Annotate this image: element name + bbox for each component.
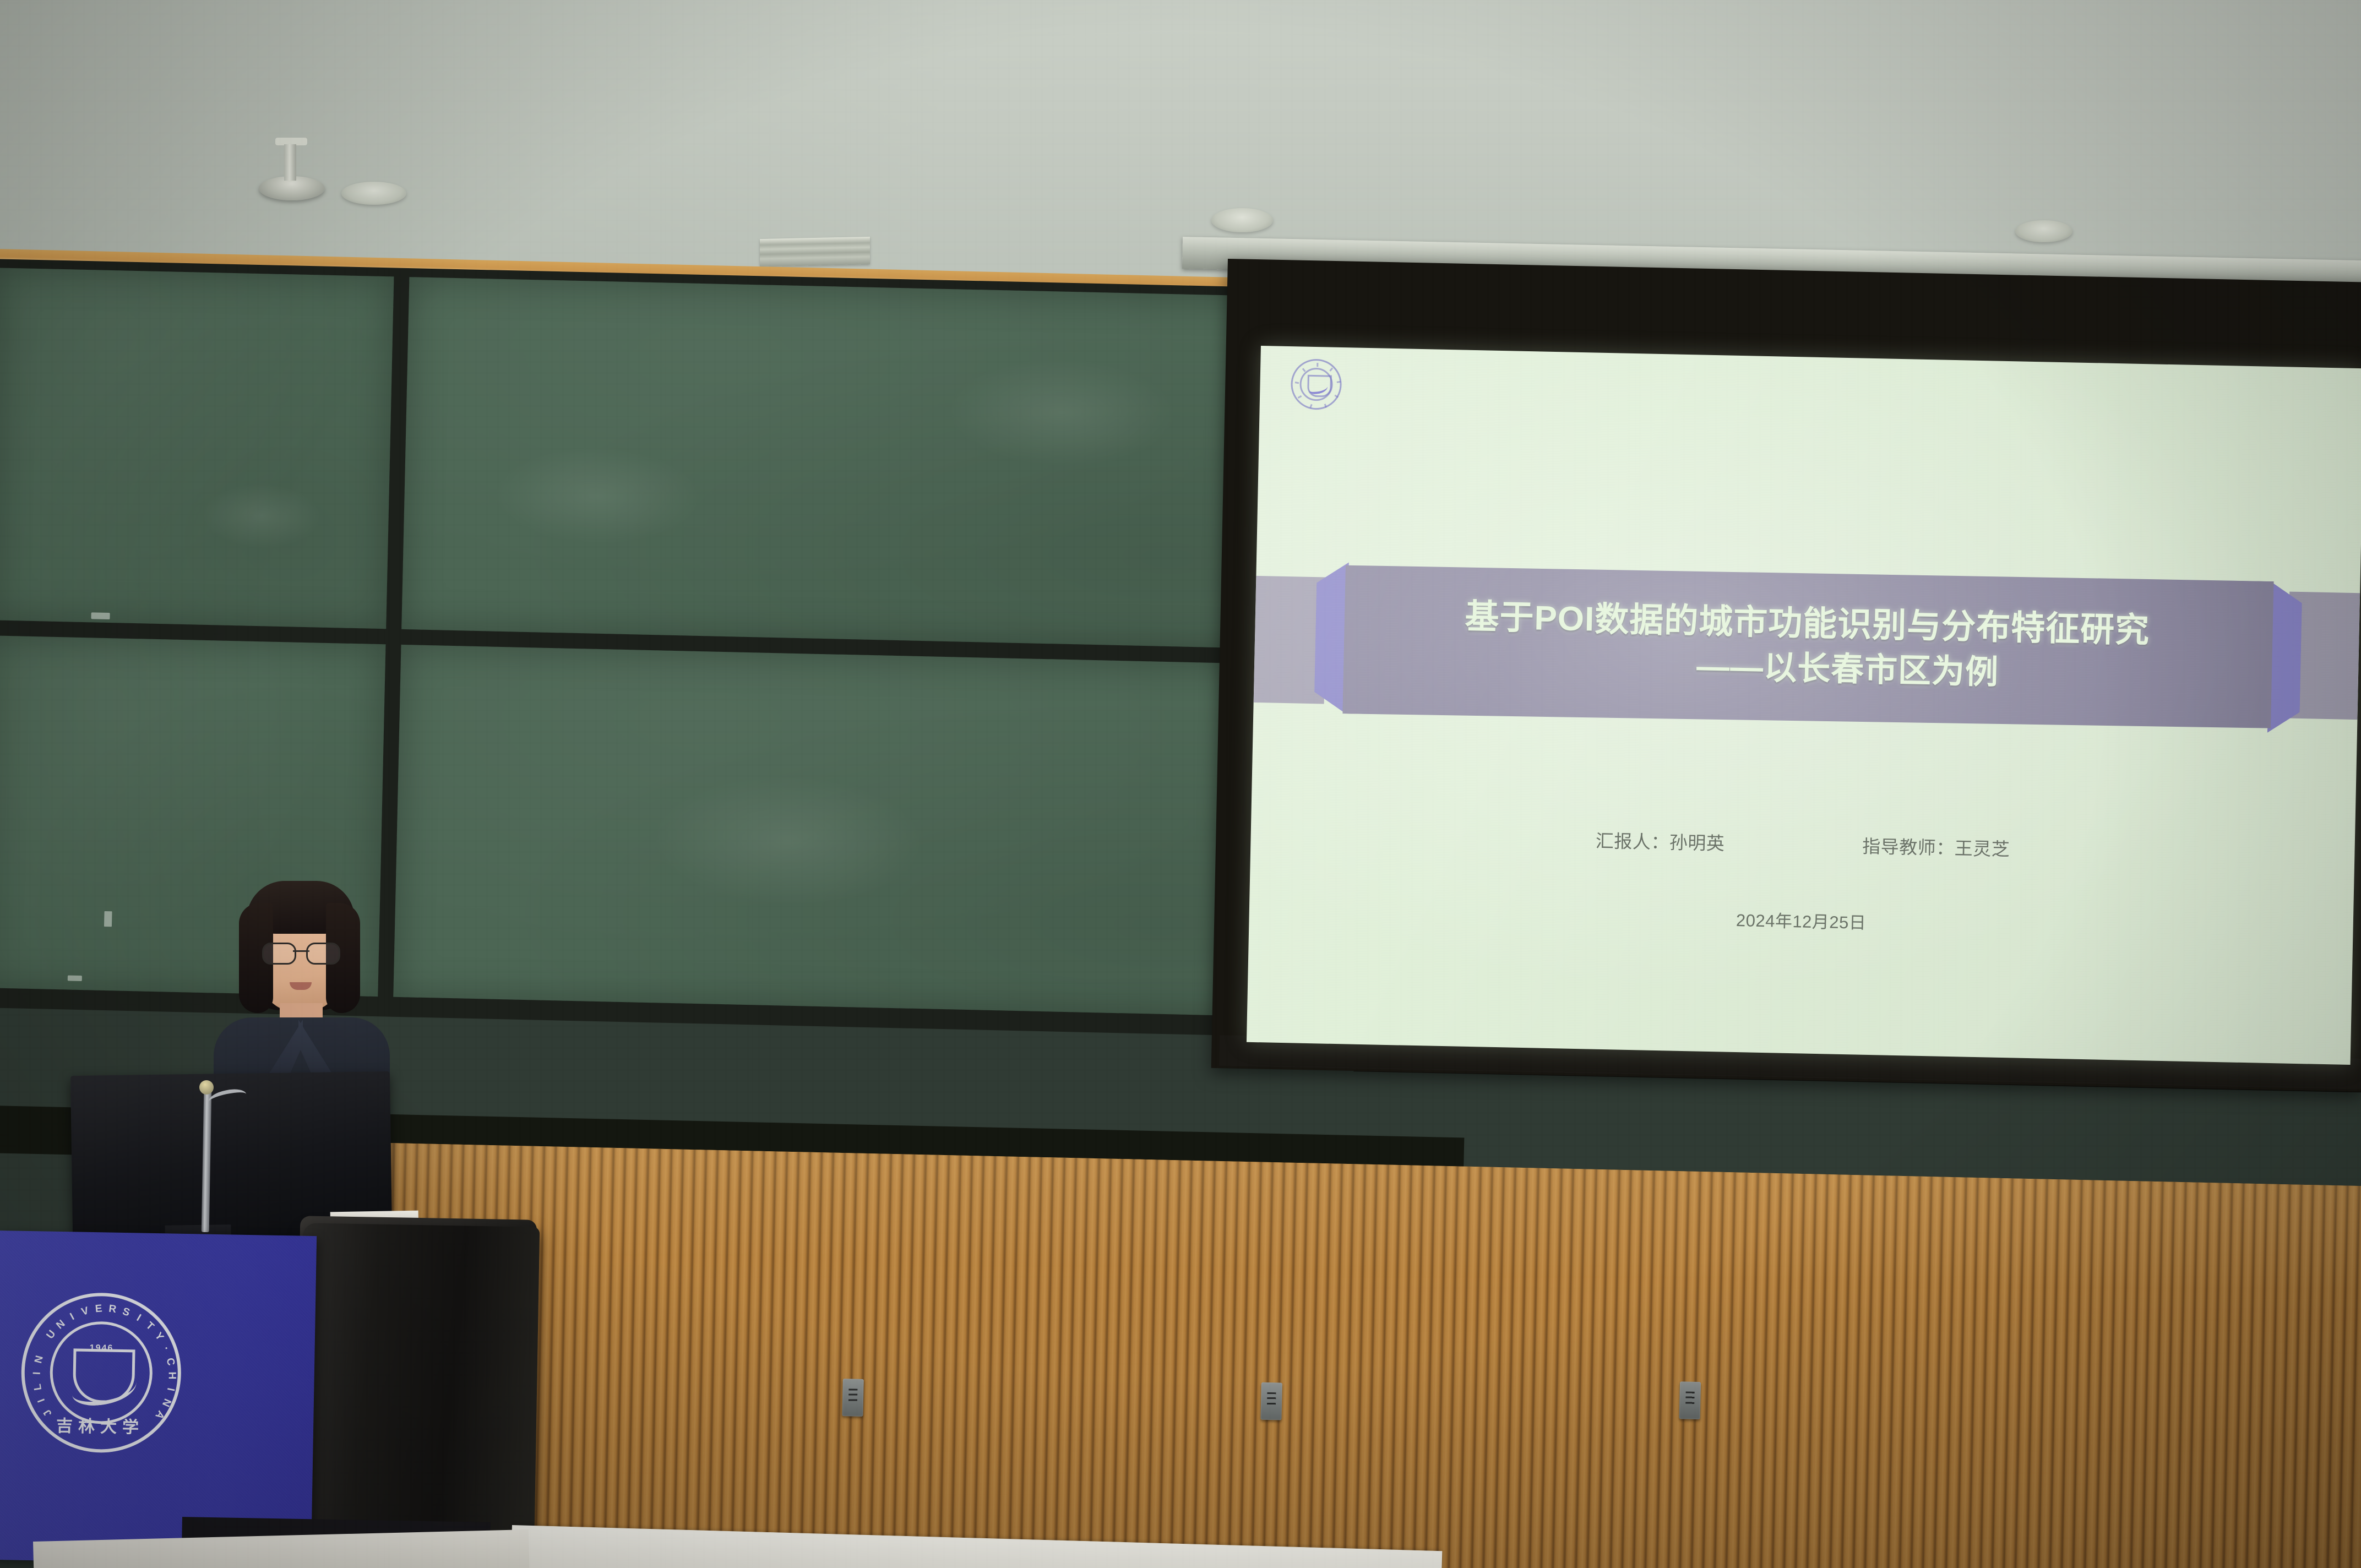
chalkboard-panel: [0, 268, 394, 629]
glasses-icon: [262, 943, 340, 961]
seal-ring-char: I: [31, 1367, 43, 1380]
chalk-residue: [104, 911, 112, 927]
seal-ring-char: R: [106, 1303, 119, 1316]
lectern-body: [297, 1223, 540, 1562]
advisor-label: 指导教师：王灵芝: [1862, 832, 2010, 862]
jilin-university-seal-icon: 1946 JILIN UNIVERSITY·CHINA 吉林大学: [20, 1292, 182, 1454]
seal-ring-char: V: [78, 1304, 93, 1319]
wood-panel-wall: [354, 1142, 2361, 1568]
ceiling-speaker-icon: [259, 176, 325, 200]
microphone-head-icon: [199, 1080, 214, 1095]
seal-ring-char: I: [163, 1382, 177, 1397]
slide-date: 2024年12月25日: [1249, 896, 2353, 944]
wood-wall-shading: [354, 1142, 2361, 1568]
ceiling-shading: [0, 0, 2361, 286]
chalk-residue: [68, 976, 82, 982]
projection-screen: 基于POI数据的城市功能识别与分布特征研究 ——以长春市区为例 汇报人：孙明英 …: [1247, 346, 2361, 1065]
slide-title-line-1: 基于POI数据的城市功能识别与分布特征研究: [1465, 598, 2150, 650]
wall-outlet[interactable]: [842, 1379, 863, 1417]
glasses-lens: [262, 943, 296, 965]
lecture-hall-photo: 基于POI数据的城市功能识别与分布特征研究 ——以长春市区为例 汇报人：孙明英 …: [0, 0, 2361, 1568]
podium-banner: 1946 JILIN UNIVERSITY·CHINA 吉林大学: [0, 1231, 317, 1565]
seal-ring-char: L: [31, 1380, 45, 1394]
seal-ring-char: N: [32, 1352, 47, 1367]
air-vent-icon: [760, 237, 870, 266]
glasses-lens: [306, 943, 340, 965]
seal-ring-char: [36, 1338, 41, 1349]
wall-outlet[interactable]: [1260, 1382, 1282, 1420]
recessed-light-icon: [1211, 208, 1273, 232]
seal-ring-char: C: [163, 1354, 177, 1369]
slide-title-line-2: ——以长春市区为例: [1613, 645, 1999, 693]
seal-ring-char: H: [166, 1369, 178, 1381]
seal-ring-char: E: [92, 1303, 105, 1316]
seal-chinese-name: 吉林大学: [24, 1412, 177, 1439]
slide-credits: 汇报人：孙明英 指导教师：王灵芝: [1250, 819, 2355, 868]
jilin-university-seal-icon: [1291, 358, 1342, 410]
presenter-label: 汇报人：孙明英: [1595, 826, 1724, 856]
slide-title-block: 基于POI数据的城市功能识别与分布特征研究 ——以长春市区为例: [1319, 563, 2294, 731]
chalk-residue: [91, 612, 110, 619]
wall-outlet[interactable]: [1679, 1381, 1701, 1419]
recessed-light-icon: [341, 182, 406, 205]
recessed-light-icon: [2015, 220, 2072, 242]
